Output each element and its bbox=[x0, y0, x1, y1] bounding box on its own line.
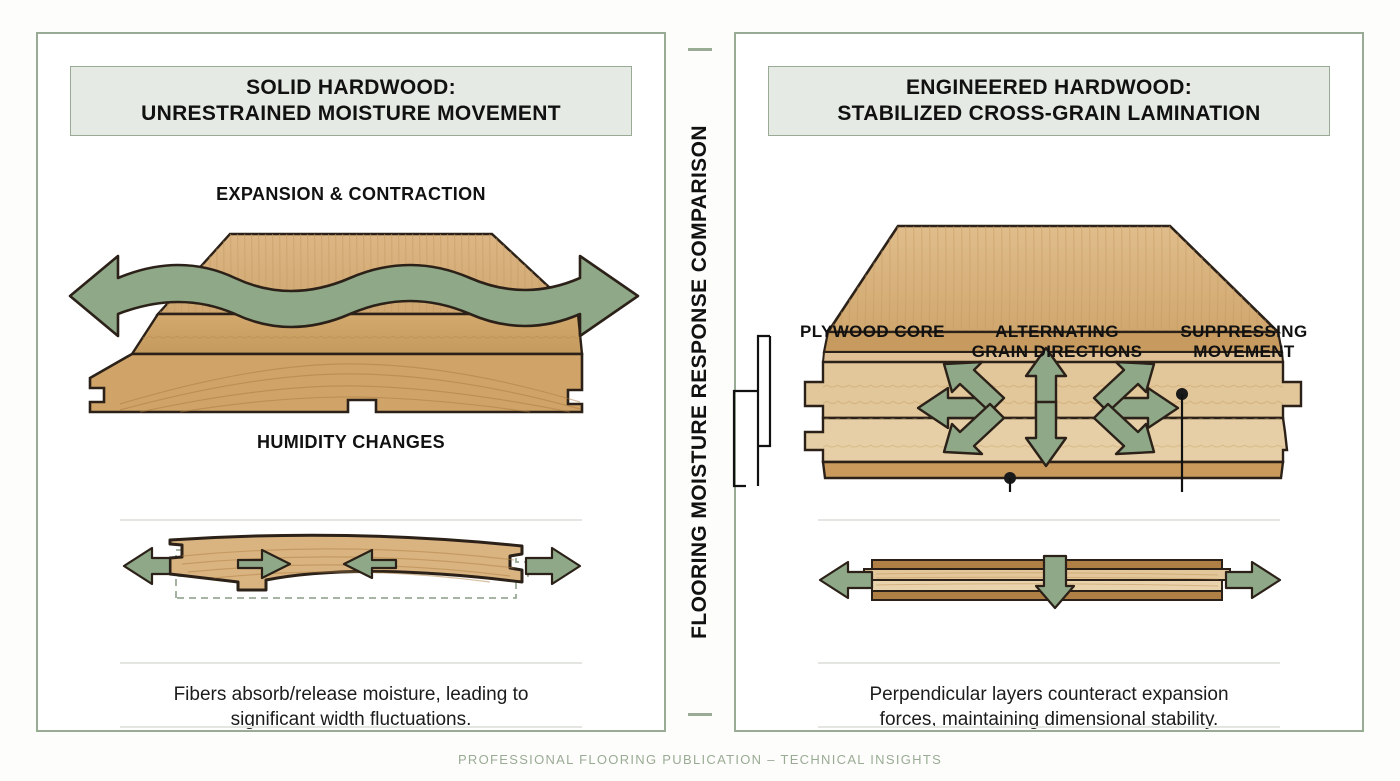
axis-dash-bottom bbox=[688, 713, 712, 716]
axis-dash-top bbox=[688, 48, 712, 51]
alternating-grain-leader bbox=[1004, 472, 1016, 492]
left-panel-header: SOLID HARDWOOD: UNRESTRAINED MOISTURE MO… bbox=[70, 66, 632, 136]
detail-arrow-left bbox=[820, 562, 872, 598]
engineered-plank-detail-diagram bbox=[816, 546, 1286, 618]
right-divider-bottom bbox=[818, 726, 1280, 728]
left-title-line-2: UNRESTRAINED MOISTURE MOVEMENT bbox=[141, 102, 561, 125]
plywood-core-bracket bbox=[734, 336, 770, 486]
left-description-line-1: Fibers absorb/release moisture, leading … bbox=[174, 684, 529, 705]
left-description: Fibers absorb/release moisture, leading … bbox=[86, 682, 616, 732]
detail-arrow-right bbox=[1226, 562, 1280, 598]
cupped-plank-detail-diagram bbox=[118, 532, 588, 624]
arrow-left-outward bbox=[124, 548, 170, 584]
right-divider-top bbox=[818, 519, 1280, 521]
infographic-canvas: SOLID HARDWOOD: UNRESTRAINED MOISTURE MO… bbox=[0, 0, 1400, 781]
panel-engineered-hardwood: ENGINEERED HARDWOOD: STABILIZED CROSS-GR… bbox=[734, 32, 1364, 732]
right-divider-middle bbox=[818, 662, 1280, 664]
left-divider-middle bbox=[120, 662, 582, 664]
humidity-changes-caption: HUMIDITY CHANGES bbox=[38, 432, 664, 453]
right-title-line-2: STABILIZED CROSS-GRAIN LAMINATION bbox=[837, 102, 1260, 125]
arrow-right-outward bbox=[526, 548, 580, 584]
right-description: Perpendicular layers counteract expansio… bbox=[776, 682, 1322, 732]
left-divider-bottom bbox=[120, 726, 582, 728]
annotation-alternating-grain: ALTERNATING GRAIN DIRECTIONS bbox=[952, 322, 1162, 362]
radiating-arrow-group bbox=[918, 348, 1178, 466]
solid-plank-diagram bbox=[60, 212, 650, 422]
expansion-contraction-caption: EXPANSION & CONTRACTION bbox=[38, 184, 664, 205]
panel-solid-hardwood: SOLID HARDWOOD: UNRESTRAINED MOISTURE MO… bbox=[36, 32, 666, 732]
layer-backing bbox=[823, 462, 1283, 478]
comparison-axis-label: FLOORING MOISTURE RESPONSE COMPARISON bbox=[688, 125, 712, 639]
right-title-line-1: ENGINEERED HARDWOOD: bbox=[906, 76, 1192, 99]
annotation-suppressing-movement: SUPPRESSING MOVEMENT bbox=[1154, 322, 1334, 362]
right-panel-header: ENGINEERED HARDWOOD: STABILIZED CROSS-GR… bbox=[768, 66, 1330, 136]
left-title-line-1: SOLID HARDWOOD: bbox=[246, 76, 456, 99]
footer-credit: PROFESSIONAL FLOORING PUBLICATION – TECH… bbox=[0, 752, 1400, 767]
left-divider-top bbox=[120, 519, 582, 521]
right-description-line-1: Perpendicular layers counteract expansio… bbox=[869, 684, 1228, 705]
